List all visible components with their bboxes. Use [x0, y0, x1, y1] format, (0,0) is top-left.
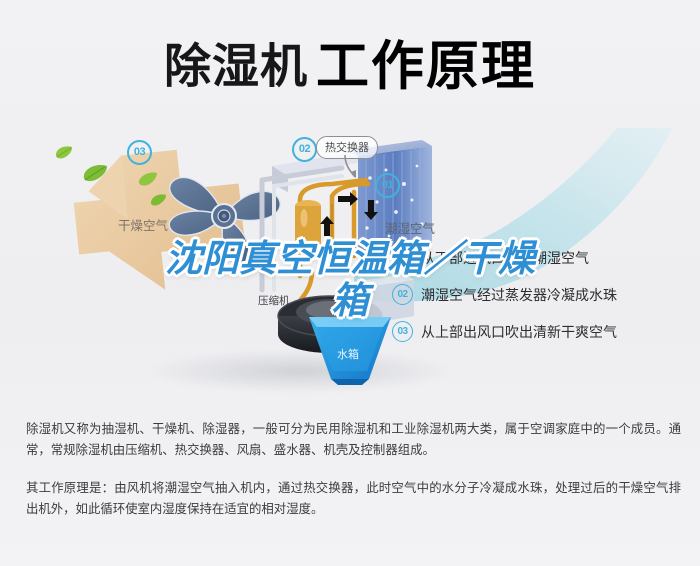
callout-pointer-icon [342, 155, 364, 179]
label-dry-air: 干燥空气 [118, 215, 168, 234]
step-text: 从下部进风口吸入潮湿空气 [421, 248, 589, 268]
step-number: 02 [392, 284, 413, 305]
body-paragraph-1: 除湿机又称为抽湿机、干燥机、除湿器，一般可分为民用除湿机和工业除湿机两大类，属于… [26, 418, 681, 460]
label-water-tank: 水箱 [337, 346, 359, 362]
label-humid-air: 潮湿空气 [385, 218, 435, 237]
leaf-icon [138, 172, 158, 187]
diagram-badge-03: 03 [127, 140, 152, 165]
diagram-badge-02: 02 [292, 137, 317, 162]
title-part-principle: 工作原理 [316, 36, 536, 97]
title-part-product: 除湿机 [164, 40, 308, 95]
list-item: 03 从上部出风口吹出清新干爽空气 [392, 321, 692, 342]
page-title: 除湿机工作原理 [0, 24, 700, 100]
body-paragraph-2: 其工作原理是：由风机将潮湿空气抽入机内，通过热交换器，此时空气中的水分子冷凝成水… [26, 477, 681, 519]
step-list: 01 从下部进风口吸入潮湿空气 02 潮湿空气经过蒸发器冷凝成水珠 03 从上部… [392, 247, 692, 358]
infographic-page: 除湿机工作原理 [0, 0, 700, 566]
body-copy: 除湿机又称为抽湿机、干燥机、除湿器，一般可分为民用除湿机和工业除湿机两大类，属于… [26, 418, 681, 536]
step-number: 03 [392, 321, 413, 342]
leaf-icon [55, 146, 73, 160]
diagram-badge-01: 01 [375, 173, 400, 198]
step-text: 潮湿空气经过蒸发器冷凝成水珠 [421, 285, 617, 305]
leaf-icon [82, 164, 108, 183]
label-compressor: 压缩机 [258, 293, 290, 308]
list-item: 01 从下部进风口吸入潮湿空气 [392, 247, 692, 268]
step-text: 从上部出风口吹出清新干爽空气 [421, 322, 617, 342]
step-number: 01 [392, 247, 413, 268]
list-item: 02 潮湿空气经过蒸发器冷凝成水珠 [392, 284, 692, 305]
